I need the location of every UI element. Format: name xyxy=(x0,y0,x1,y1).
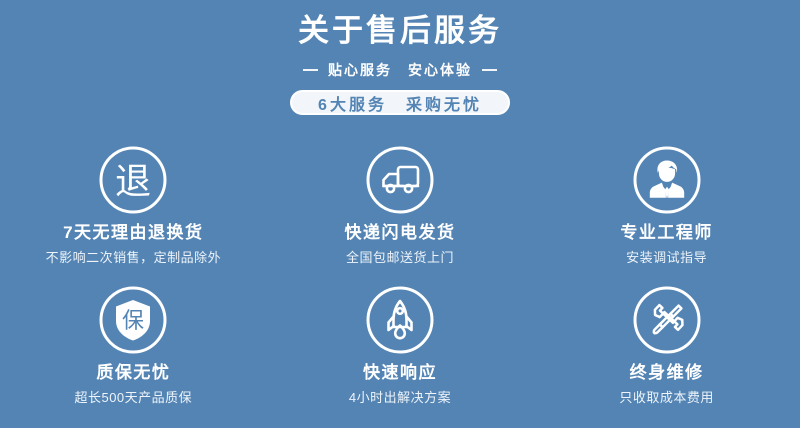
return-circle-icon: 退 xyxy=(98,145,168,215)
service-badge: 6大服务 采购无忧 xyxy=(290,90,510,115)
dash-left-icon xyxy=(303,69,318,71)
service-item-warranty: 保 质保无忧 超长500天产品质保 xyxy=(0,277,267,417)
banner-header: 关于售后服务 贴心服务 安心体验 6大服务 采购无忧 xyxy=(0,0,800,115)
rocket-icon xyxy=(365,285,435,355)
service-item-return: 退 7天无理由退换货 不影响二次销售，定制品除外 xyxy=(0,137,267,277)
service-title: 7天无理由退换货 xyxy=(63,223,203,243)
wrench-screwdriver-icon xyxy=(632,285,702,355)
service-desc: 4小时出解决方案 xyxy=(349,390,451,406)
service-title: 终身维修 xyxy=(630,363,704,383)
page-title: 关于售后服务 xyxy=(0,11,800,51)
service-item-engineer: 专业工程师 安装调试指导 xyxy=(533,137,800,277)
delivery-truck-icon xyxy=(365,145,435,215)
service-title: 质保无忧 xyxy=(96,363,170,383)
page-subtitle: 贴心服务 安心体验 xyxy=(328,60,472,80)
service-desc: 全国包邮送货上门 xyxy=(346,250,454,266)
dash-right-icon xyxy=(482,69,497,71)
after-sales-service-banner: 关于售后服务 贴心服务 安心体验 6大服务 采购无忧 退 7天无理由退换货 不影… xyxy=(0,0,800,428)
service-title: 专业工程师 xyxy=(620,223,713,243)
service-grid: 退 7天无理由退换货 不影响二次销售，定制品除外 xyxy=(0,137,800,417)
engineer-person-icon xyxy=(632,145,702,215)
service-desc: 超长500天产品质保 xyxy=(74,390,192,406)
service-desc: 只收取成本费用 xyxy=(619,390,714,406)
service-desc: 安装调试指导 xyxy=(626,250,707,266)
svg-text:保: 保 xyxy=(122,308,144,333)
service-desc: 不影响二次销售，定制品除外 xyxy=(46,250,222,266)
svg-text:退: 退 xyxy=(115,161,151,202)
service-item-response: 快速响应 4小时出解决方案 xyxy=(267,277,534,417)
service-title: 快速响应 xyxy=(363,363,437,383)
service-item-shipping: 快递闪电发货 全国包邮送货上门 xyxy=(267,137,534,277)
service-item-repair: 终身维修 只收取成本费用 xyxy=(533,277,800,417)
subtitle-row: 贴心服务 安心体验 xyxy=(0,60,800,80)
warranty-shield-icon: 保 xyxy=(98,285,168,355)
badge-row: 6大服务 采购无忧 xyxy=(0,90,800,115)
service-title: 快递闪电发货 xyxy=(344,223,455,243)
